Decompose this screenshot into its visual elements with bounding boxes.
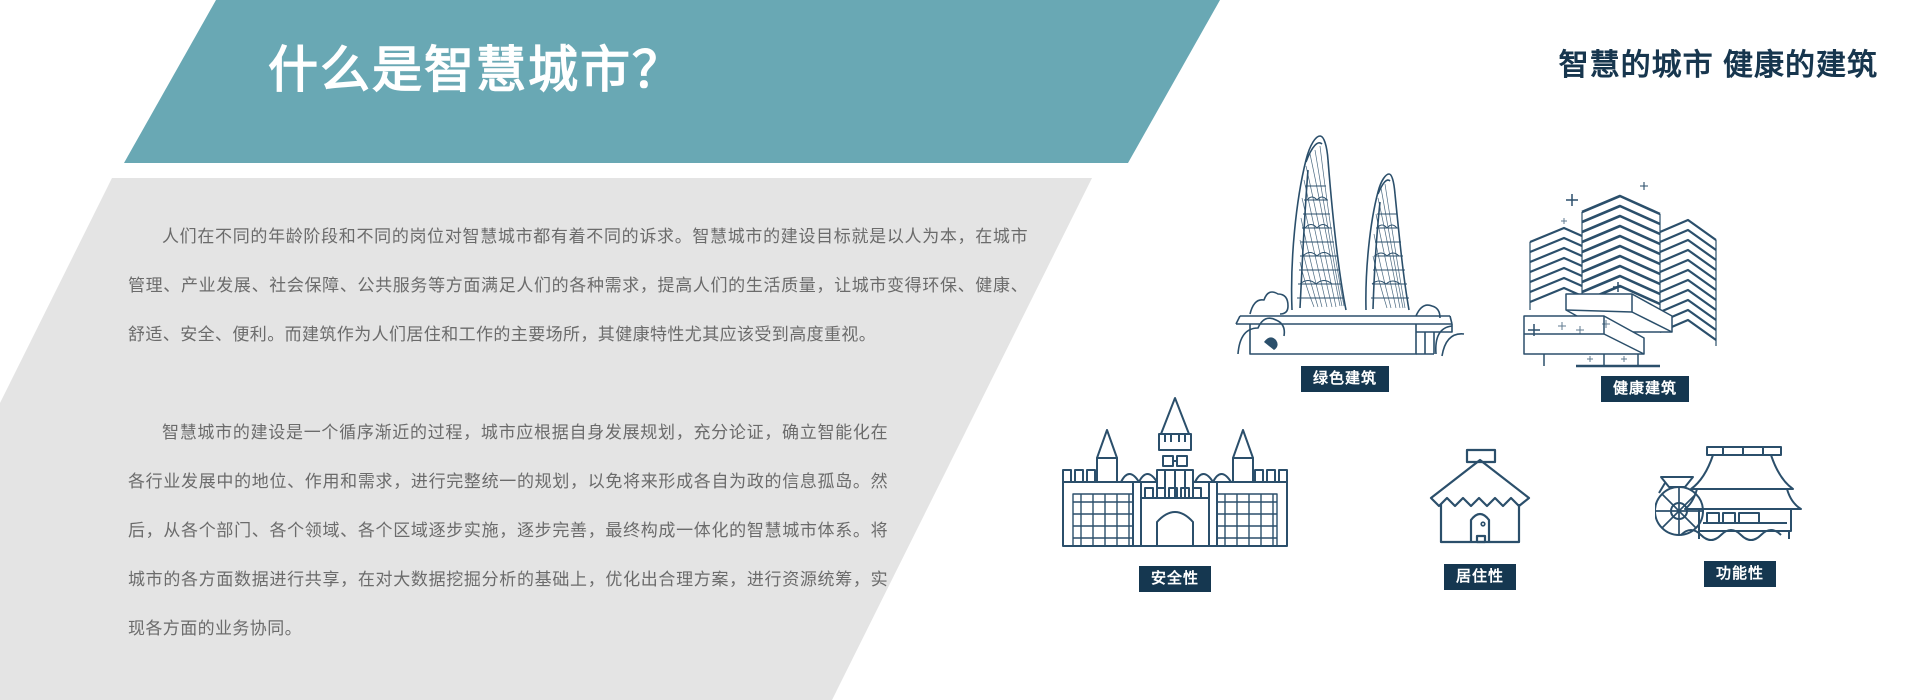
label-safety: 安全性: [1139, 566, 1211, 592]
figure-safety: 安全性: [1030, 390, 1320, 592]
label-health-building: 健康建筑: [1601, 376, 1689, 402]
label-green-building: 绿色建筑: [1301, 366, 1389, 392]
body-copy: 人们在不同的年龄阶段和不同的岗位对智慧城市都有着不同的诉求。智慧城市的建设目标就…: [128, 212, 1028, 653]
label-livability: 居住性: [1444, 564, 1516, 590]
figure-functionality: 功能性: [1640, 435, 1840, 587]
castle-fortress-icon: [1045, 390, 1305, 560]
hospital-building-icon: [1520, 170, 1770, 370]
watermill-house-icon: [1655, 435, 1825, 555]
house-icon: [1415, 440, 1545, 558]
figure-livability: 居住性: [1390, 440, 1570, 590]
figure-health-building: 健康建筑: [1510, 170, 1780, 402]
tagline-heading: 智慧的城市 健康的建筑: [1559, 40, 1878, 84]
green-tower-building-icon: [1220, 110, 1470, 360]
page-title: 什么是智慧城市？: [268, 30, 684, 102]
poster-canvas: 什么是智慧城市？ 智慧的城市 健康的建筑 人们在不同的年龄阶段和不同的岗位对智慧…: [0, 0, 1920, 700]
paragraph-2: 智慧城市的建设是一个循序渐近的过程，城市应根据自身发展规划，充分论证，确立智能化…: [128, 408, 888, 653]
figure-green-building: 绿色建筑: [1220, 110, 1470, 392]
paragraph-1: 人们在不同的年龄阶段和不同的岗位对智慧城市都有着不同的诉求。智慧城市的建设目标就…: [128, 212, 1028, 359]
illustration-group: 绿色建筑: [1060, 110, 1920, 630]
label-functionality: 功能性: [1704, 561, 1776, 587]
